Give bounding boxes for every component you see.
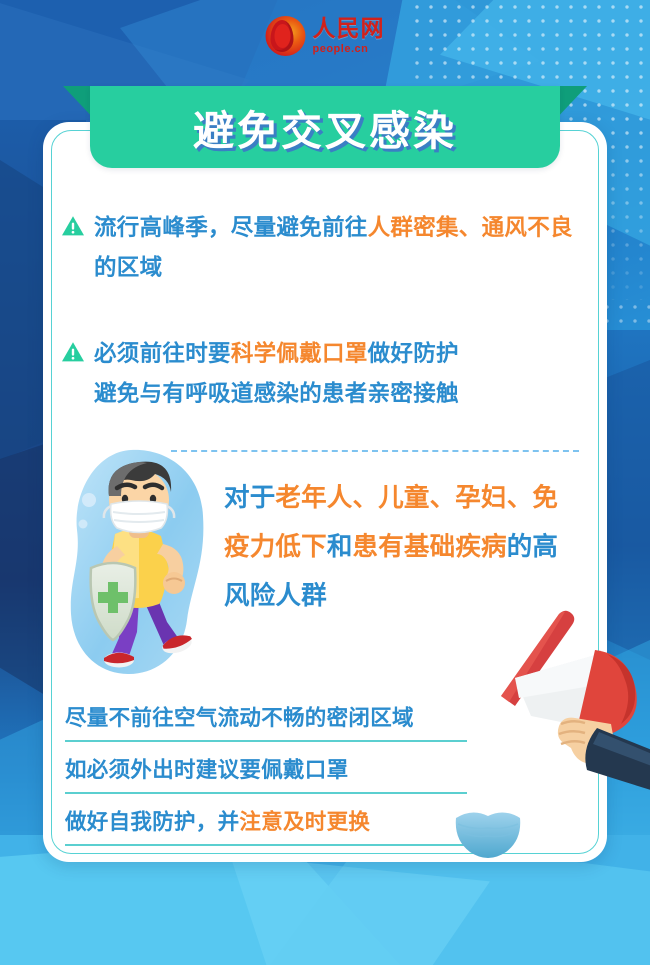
footer-line-1: 尽量不前往空气流动不畅的密闭区域	[65, 704, 467, 742]
bullet-2-seg-3: 做好防护	[368, 341, 459, 367]
bullet-1-seg-3: 通风不良	[482, 215, 573, 241]
bullet-1-seg-2: 人群密集、	[368, 215, 482, 241]
warning-triangle-icon	[61, 215, 85, 242]
people-cn-logo-mark-icon	[266, 16, 306, 56]
page-title: 避免交叉感染	[90, 86, 560, 168]
people-cn-logo[interactable]: 人民网 people.cn	[266, 16, 385, 56]
footer-line-2-text: 如必须外出时建议要佩戴口罩	[65, 758, 348, 783]
bullet-1-text: 流行高峰季，尽量避免前往人群密集、通风不良的区域	[94, 208, 591, 288]
title-banner: 避免交叉感染	[0, 86, 650, 170]
bullet-2-seg-1: 必须前往时要	[94, 341, 231, 367]
footer-line-3: 做好自我防护，并注意及时更换	[65, 808, 467, 846]
logo-name-cn: 人民网	[313, 18, 385, 41]
bullet-2-seg-4: 避免与有呼吸道感染的患者亲密接触	[94, 381, 459, 407]
mid-seg-3: 和	[327, 532, 353, 562]
bullet-item-1: 流行高峰季，尽量避免前往人群密集、通风不良的区域	[61, 208, 591, 288]
dashed-divider	[171, 450, 579, 452]
people-cn-logo-text: 人民网 people.cn	[313, 18, 385, 55]
bullet-1-seg-1: 流行高峰季，尽量避免前往	[94, 215, 368, 241]
footer-line-1-text: 尽量不前往空气流动不畅的密闭区域	[65, 706, 414, 731]
footer-line-2: 如必须外出时建议要佩戴口罩	[65, 756, 467, 794]
footer-lines: 尽量不前往空气流动不畅的密闭区域 如必须外出时建议要佩戴口罩 做好自我防护，并注…	[65, 704, 495, 846]
banner-body: 避免交叉感染	[90, 86, 560, 168]
bullet-2-seg-2: 科学佩戴口罩	[231, 341, 368, 367]
mid-seg-1: 对于	[224, 483, 275, 513]
logo-name-en: people.cn	[313, 44, 369, 55]
footer-line-3-seg-1: 做好自我防护，并	[65, 810, 239, 835]
bullet-2-text: 必须前往时要科学佩戴口罩做好防护避免与有呼吸道感染的患者亲密接触	[94, 334, 459, 414]
bullet-item-2: 必须前往时要科学佩戴口罩做好防护避免与有呼吸道感染的患者亲密接触	[61, 334, 591, 414]
warning-triangle-icon	[61, 341, 85, 368]
footer-line-3-seg-2: 注意及时更换	[239, 810, 370, 835]
mid-seg-4: 患有基础疾病	[353, 532, 507, 562]
boy-with-mask-and-shield-illustration	[59, 442, 219, 682]
bullet-1-seg-4: 的区域	[94, 255, 162, 281]
poster-root: 人民网 people.cn 避免交叉感染 流行高峰季，尽量避免前往人群密集、通风…	[0, 0, 650, 965]
megaphone-in-hand-illustration	[487, 592, 650, 792]
surgical-mask-illustration	[452, 808, 524, 858]
